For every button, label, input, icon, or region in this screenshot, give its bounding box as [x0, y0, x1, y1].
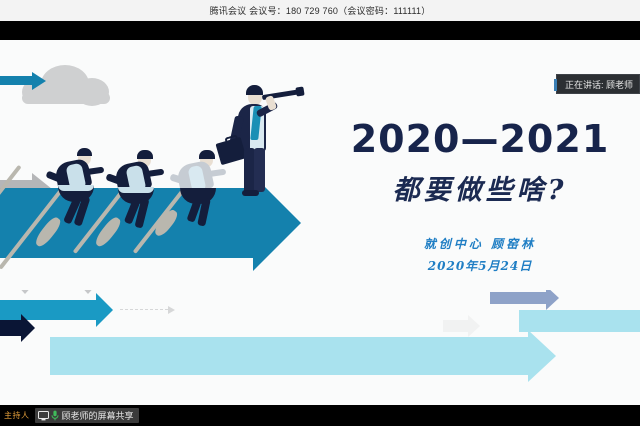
speaking-indicator-tooltip: 正在讲话: 顾老师	[556, 74, 640, 94]
share-status-bar: 主持人 顾老师的屏幕共享	[0, 405, 640, 426]
speaking-indicator-text: 正在讲话: 顾老师	[565, 78, 633, 91]
chevron-faint-head	[468, 315, 480, 337]
monitor-icon	[38, 411, 49, 421]
meeting-info-text: 腾讯会议 会议号：180 729 760（会议密码：111111）	[210, 4, 431, 17]
microphone-icon	[51, 410, 59, 421]
letterbox-top	[0, 21, 640, 40]
screen-share-label: 顾老师的屏幕共享	[62, 409, 134, 422]
host-badge: 主持人	[2, 409, 32, 422]
leader-figure-with-telescope	[226, 68, 306, 198]
slide-dateline: 2020年5月24日	[330, 257, 630, 274]
shared-screen-slide-lower[interactable]	[0, 290, 640, 405]
speaking-marker-icon	[554, 79, 557, 91]
slide-main-title: 2020—2021	[330, 120, 630, 158]
arrow-steel-blue	[490, 292, 570, 304]
rower-figure-1	[50, 152, 116, 230]
shared-screen-slide[interactable]: 2020—2021 都要做些啥? 就创中心 顾窑林 2020年5月24日	[0, 40, 640, 290]
slide-sub-title: 都要做些啥?	[330, 168, 630, 207]
arrow-lightblue-upper-right	[519, 310, 640, 332]
rower-figure-2	[110, 154, 176, 232]
arrow-dashed-lower	[120, 309, 168, 310]
arrow-lightblue-wide	[50, 337, 590, 375]
screen-share-chip[interactable]: 顾老师的屏幕共享	[35, 408, 139, 423]
arrow-teal-mid	[0, 300, 120, 320]
arrow-navy	[0, 320, 43, 336]
chevron-gray-1	[16, 290, 34, 294]
meeting-info-bar: 腾讯会议 会议号：180 729 760（会议密码：111111）	[0, 0, 640, 21]
chevron-faint	[443, 320, 469, 332]
slide-text-block: 2020—2021 都要做些啥? 就创中心 顾窑林 2020年5月24日	[330, 120, 630, 274]
arrow-teal-small-upper	[0, 76, 42, 85]
slide-byline: 就创中心 顾窑林	[330, 235, 630, 252]
chevron-gray-2	[79, 290, 97, 294]
meeting-window: 腾讯会议 会议号：180 729 760（会议密码：111111）	[0, 0, 640, 426]
